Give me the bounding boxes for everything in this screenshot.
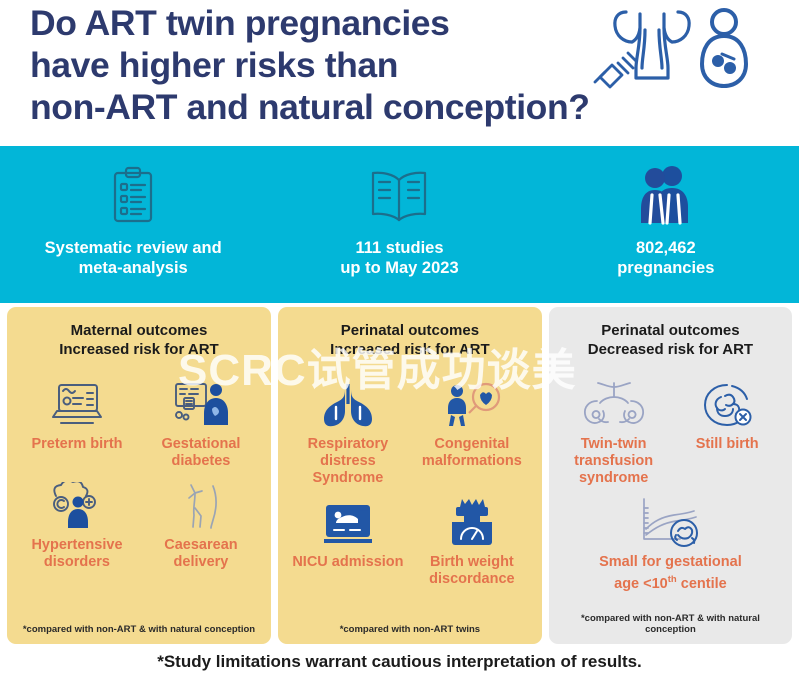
- outcome-label: Hypertensive disorders: [29, 537, 124, 571]
- syringe-icon: [595, 53, 636, 87]
- uterus-syringe-icon: [615, 12, 689, 78]
- outcome-item: Respiratory distress Syndrome: [286, 375, 410, 487]
- panel-footnote: *compared with non-ART & with natural co…: [557, 613, 784, 644]
- preterm-birth-incubator-icon: [49, 375, 105, 429]
- caesarean-delivery-icon: [177, 476, 225, 530]
- outcome-label: Caesarean delivery: [162, 537, 239, 571]
- panel-title: Perinatal outcomes Decreased risk for AR…: [557, 321, 784, 359]
- stat-label: 802,462 pregnancies: [617, 238, 714, 278]
- outcome-grid: Respiratory distress Syndrome: [286, 363, 534, 624]
- outcome-label: Congenital malformations: [420, 436, 524, 470]
- infographic-root: Do ART twin pregnancies have higher risk…: [0, 0, 799, 684]
- nicu-incubator-icon: [320, 493, 376, 547]
- outcome-label-post: centile: [677, 576, 727, 592]
- stat-item: 802,462 pregnancies: [533, 146, 799, 303]
- congenital-malformations-icon: [442, 375, 502, 429]
- panel-maternal-increased: Maternal outcomes Increased risk for ART: [7, 307, 271, 644]
- still-birth-icon: [699, 375, 755, 429]
- clipboard-checklist-icon: [110, 162, 156, 230]
- stat-label: 111 studies up to May 2023: [340, 238, 458, 278]
- gestational-diabetes-icon: [172, 375, 230, 429]
- outcome-item: Gestational diabetes: [139, 375, 263, 470]
- panel-title: Maternal outcomes Increased risk for ART: [15, 321, 263, 359]
- panel-footnote: *compared with non-ART & with natural co…: [15, 624, 263, 644]
- outcome-label-superscript: th: [668, 574, 677, 585]
- two-people-icon: [638, 162, 694, 230]
- outcome-grid: Preterm birth: [15, 363, 263, 624]
- stat-label: Systematic review and meta-analysis: [45, 238, 222, 278]
- outcome-item: Caesarean delivery: [139, 476, 263, 571]
- outcome-label: NICU admission: [290, 554, 405, 571]
- hypertensive-disorders-icon: [48, 476, 106, 530]
- growth-chart-icon: [630, 493, 710, 547]
- page-title: Do ART twin pregnancies have higher risk…: [30, 2, 600, 128]
- lungs-icon: [319, 375, 377, 429]
- outcome-label: Still birth: [694, 436, 761, 453]
- twin-twin-transfusion-icon: [581, 375, 647, 429]
- stat-item: Systematic review and meta-analysis: [0, 146, 266, 303]
- outcome-label: Gestational diabetes: [159, 436, 242, 470]
- stat-item: 111 studies up to May 2023: [266, 146, 532, 303]
- outcome-label: Preterm birth: [29, 436, 124, 453]
- pregnant-person-icon: [702, 10, 746, 86]
- study-limitations-note: *Study limitations warrant cautious inte…: [0, 652, 799, 672]
- outcome-item: Twin-twin transfusion syndrome: [557, 375, 671, 487]
- outcome-item: Birth weight discordance: [410, 493, 534, 588]
- outcome-grid: Twin-twin transfusion syndrome: [557, 363, 784, 613]
- header-icon-group: [592, 6, 772, 90]
- outcome-item: NICU admission: [286, 493, 410, 588]
- open-book-icon: [368, 162, 430, 230]
- header: Do ART twin pregnancies have higher risk…: [0, 0, 799, 146]
- stats-band: Systematic review and meta-analysis 111 …: [0, 146, 799, 303]
- panel-title: Perinatal outcomes Increased risk for AR…: [286, 321, 534, 359]
- outcome-item: Still birth: [670, 375, 784, 487]
- outcome-label: Birth weight discordance: [427, 554, 516, 588]
- outcome-item: Small for gestational age <10th centile: [557, 493, 784, 593]
- birth-weight-scale-icon: [446, 493, 498, 547]
- outcome-item: Hypertensive disorders: [15, 476, 139, 571]
- panel-perinatal-increased: Perinatal outcomes Increased risk for AR…: [278, 307, 542, 644]
- outcome-label: Small for gestational age <10th centile: [597, 554, 744, 593]
- outcome-label: Respiratory distress Syndrome: [286, 436, 410, 487]
- outcome-label: Twin-twin transfusion syndrome: [572, 436, 655, 487]
- panel-perinatal-decreased: Perinatal outcomes Decreased risk for AR…: [549, 307, 792, 644]
- outcome-item: Congenital malformations: [410, 375, 534, 487]
- outcome-panels: Maternal outcomes Increased risk for ART: [0, 307, 799, 644]
- panel-footnote: *compared with non-ART twins: [286, 624, 534, 644]
- outcome-item: Preterm birth: [15, 375, 139, 470]
